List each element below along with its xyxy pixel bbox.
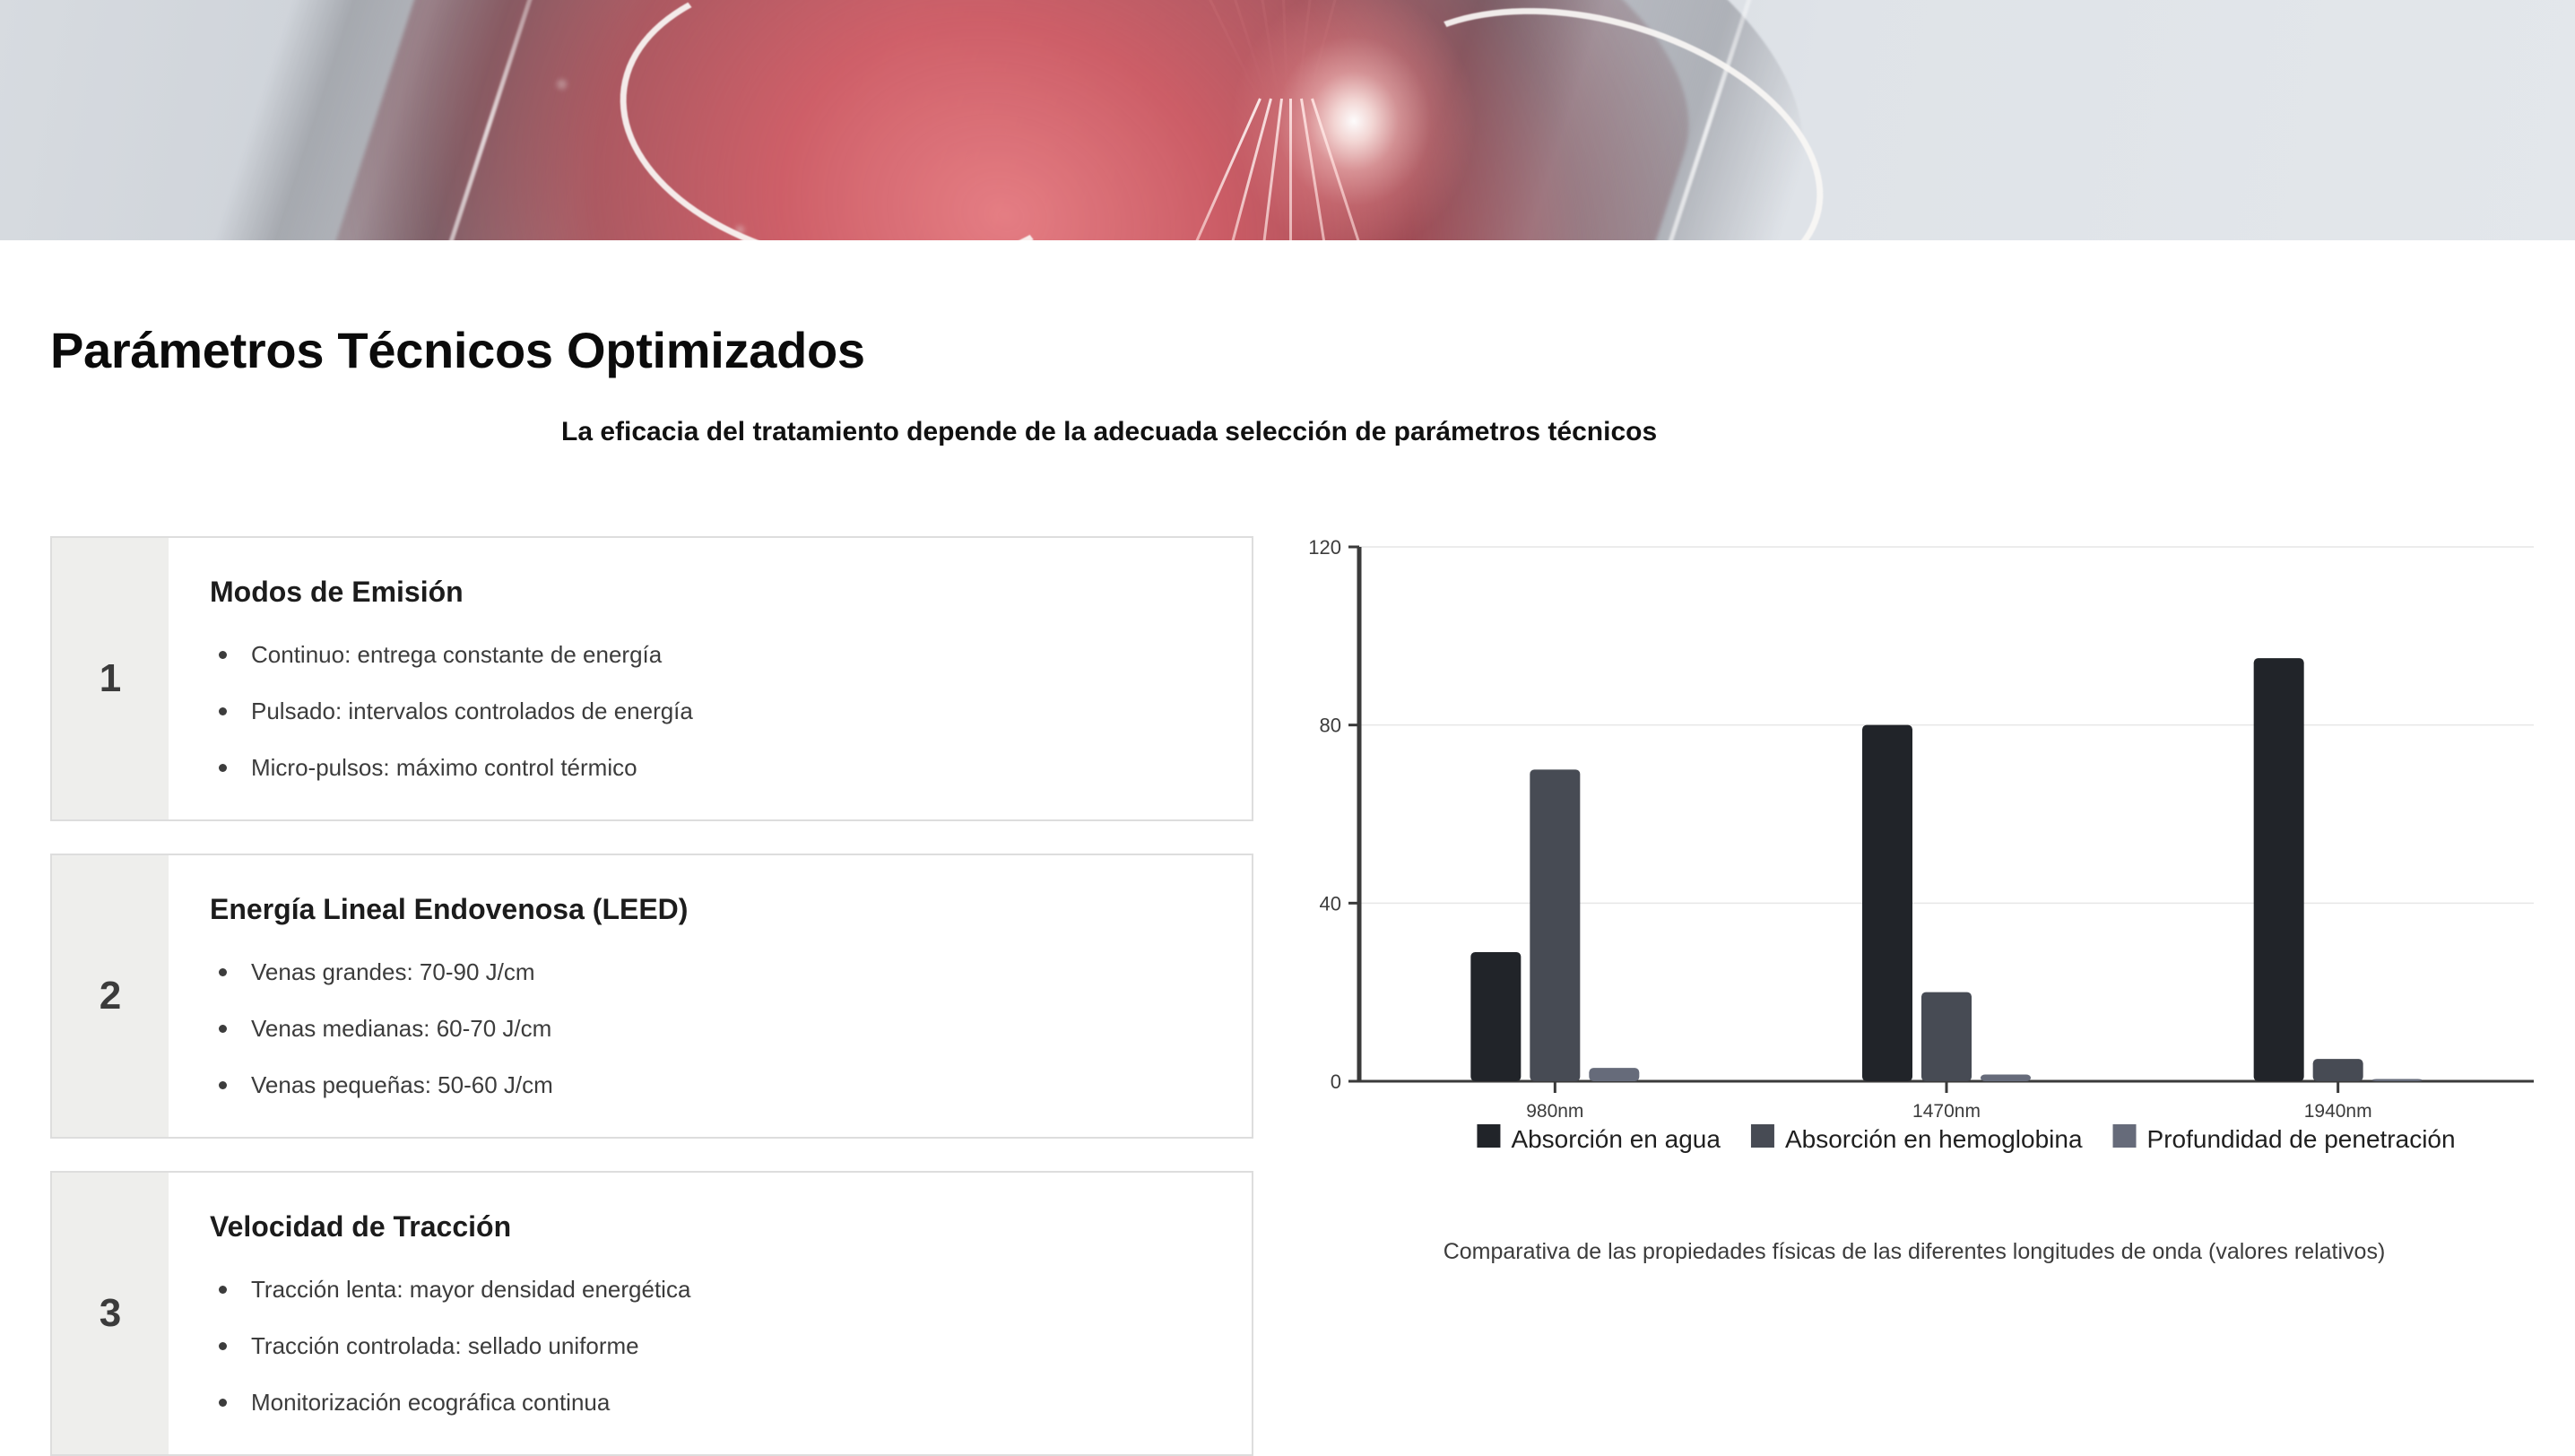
list-item-text: Tracción controlada: sellado uniforme: [251, 1332, 639, 1359]
chart-bar[interactable]: [1589, 1068, 1639, 1081]
list-item-text: Micro-pulsos: máximo control térmico: [251, 754, 637, 781]
legend-item[interactable]: Profundidad de penetración: [2113, 1124, 2456, 1153]
list-item: Monitorización ecográfica continua: [210, 1389, 1210, 1417]
slide-page: Parámetros Técnicos Optimizados La efica…: [0, 0, 2575, 1456]
card-title: Modos de Emisión: [210, 576, 1210, 609]
list-item-text: Tracción lenta: mayor densidad energétic…: [251, 1276, 690, 1303]
y-axis-tick-label: 120: [1308, 536, 1341, 559]
bullet-icon: [219, 1081, 227, 1089]
list-item: Continuo: entrega constante de energía: [210, 641, 1210, 669]
legend-item[interactable]: Absorción en agua: [1477, 1124, 1721, 1153]
bullet-icon: [219, 1399, 227, 1407]
chart-bar[interactable]: [1530, 769, 1580, 1081]
chart-bar[interactable]: [2372, 1079, 2423, 1081]
card-title: Energía Lineal Endovenosa (LEED): [210, 893, 1210, 926]
y-axis-tick-label: 40: [1320, 892, 1341, 914]
list-item: Venas medianas: 60-70 J/cm: [210, 1015, 1210, 1043]
chart-bar[interactable]: [2313, 1059, 2363, 1081]
bullet-icon: [219, 968, 227, 976]
list-item: Pulsado: intervalos controlados de energ…: [210, 698, 1210, 725]
bullet-icon: [219, 1025, 227, 1033]
bullet-icon: [219, 1342, 227, 1350]
list-item: Tracción controlada: sellado uniforme: [210, 1332, 1210, 1360]
x-axis-tick-label: 1470nm: [1912, 1101, 1981, 1122]
y-axis-tick-label: 0: [1331, 1070, 1341, 1093]
legend-label: Absorción en agua: [1511, 1125, 1721, 1153]
chart-bar[interactable]: [1470, 952, 1521, 1081]
bullet-icon: [219, 1286, 227, 1294]
card-number: 2: [52, 855, 169, 1137]
wavelength-comparison-chart[interactable]: 04080120980nm1470nm1940nmAbsorción en ag…: [1282, 527, 2546, 1173]
card-body: Energía Lineal Endovenosa (LEED) Venas g…: [169, 855, 1252, 1137]
legend-swatch: [1751, 1124, 1774, 1148]
x-axis-tick-label: 1940nm: [2304, 1101, 2372, 1122]
chart-caption: Comparativa de las propiedades físicas d…: [1282, 1239, 2546, 1265]
parameter-card[interactable]: 3 Velocidad de Tracción Tracción lenta: …: [50, 1171, 1253, 1456]
chart-bar[interactable]: [2254, 658, 2304, 1081]
page-subtitle: La eficacia del tratamiento depende de l…: [561, 417, 1657, 447]
legend-label: Absorción en hemoglobina: [1785, 1125, 2083, 1153]
card-title: Velocidad de Tracción: [210, 1210, 1210, 1244]
list-item-text: Monitorización ecográfica continua: [251, 1389, 610, 1416]
list-item-text: Venas grandes: 70-90 J/cm: [251, 958, 535, 985]
card-bullet-list: Continuo: entrega constante de energía P…: [210, 641, 1210, 783]
chart-bar[interactable]: [1981, 1075, 2031, 1081]
parameter-cards: 1 Modos de Emisión Continuo: entrega con…: [50, 536, 1253, 1456]
card-body: Velocidad de Tracción Tracción lenta: ma…: [169, 1173, 1252, 1454]
x-axis-tick-label: 980nm: [1526, 1101, 1583, 1122]
legend-item[interactable]: Absorción en hemoglobina: [1751, 1124, 2083, 1153]
laser-flare: [1067, 0, 1641, 240]
bullet-icon: [219, 651, 227, 659]
chart-bar[interactable]: [1862, 725, 1912, 1081]
card-bullet-list: Venas grandes: 70-90 J/cm Venas medianas…: [210, 958, 1210, 1100]
list-item: Venas grandes: 70-90 J/cm: [210, 958, 1210, 986]
list-item: Tracción lenta: mayor densidad energétic…: [210, 1276, 1210, 1304]
parameter-card[interactable]: 2 Energía Lineal Endovenosa (LEED) Venas…: [50, 854, 1253, 1139]
page-title: Parámetros Técnicos Optimizados: [50, 321, 865, 379]
list-item-text: Continuo: entrega constante de energía: [251, 641, 662, 668]
list-item: Venas pequeñas: 50-60 J/cm: [210, 1071, 1210, 1099]
y-axis-tick-label: 80: [1320, 715, 1341, 737]
card-body: Modos de Emisión Continuo: entrega const…: [169, 538, 1252, 819]
bullet-icon: [219, 707, 227, 715]
chart-canvas: 04080120980nm1470nm1940nmAbsorción en ag…: [1282, 527, 2546, 1173]
card-bullet-list: Tracción lenta: mayor densidad energétic…: [210, 1276, 1210, 1417]
legend-swatch: [2113, 1124, 2137, 1148]
list-item-text: Venas medianas: 60-70 J/cm: [251, 1015, 551, 1042]
list-item-text: Venas pequeñas: 50-60 J/cm: [251, 1071, 553, 1098]
bullet-icon: [219, 764, 227, 772]
card-number: 3: [52, 1173, 169, 1454]
legend-label: Profundidad de penetración: [2147, 1125, 2456, 1153]
chart-bar[interactable]: [1921, 992, 1972, 1081]
parameter-card[interactable]: 1 Modos de Emisión Continuo: entrega con…: [50, 536, 1253, 821]
legend-swatch: [1477, 1124, 1500, 1148]
card-number: 1: [52, 538, 169, 819]
list-item-text: Pulsado: intervalos controlados de energ…: [251, 698, 693, 724]
list-item: Micro-pulsos: máximo control térmico: [210, 754, 1210, 782]
hero-image: [0, 0, 2575, 240]
